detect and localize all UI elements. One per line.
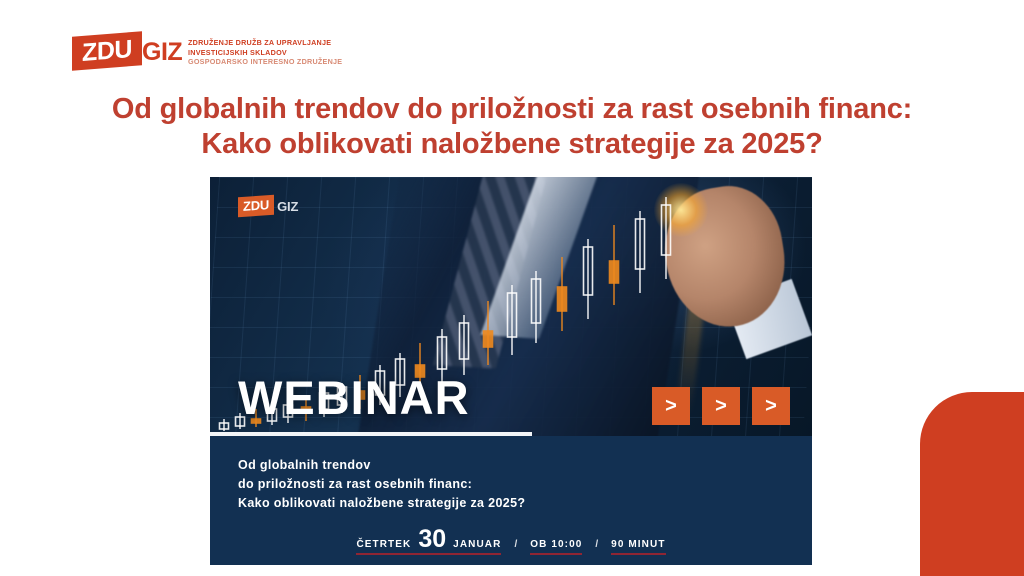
card-logo-giz: GIZ (277, 199, 298, 214)
corner-accent-shape (920, 392, 1024, 576)
logo-tagline-line-2: INVESTICIJSKIH SKLADOV (188, 48, 342, 58)
webinar-description-line-1: Od globalnih trendov (238, 456, 525, 475)
meta-month: JANUAR (453, 539, 501, 550)
webinar-label: WEBINAR (238, 373, 470, 423)
card-logo: ZDU GIZ (238, 196, 298, 216)
webinar-description: Od globalnih trendov do priložnosti za r… (238, 456, 525, 513)
meta-time: OB 10:00 (530, 539, 582, 555)
page-title-line-1: Od globalnih trendov do priložnosti za r… (112, 93, 912, 125)
webinar-meta-row: ČETRTEK 30 JANUAR / OB 10:00 / 90 MINUT (210, 528, 812, 555)
logo-tagline-line-3: GOSPODARSKO INTERESNO ZDRUŽENJE (188, 57, 342, 67)
page-title-line-2: Kako oblikovati naložbene strategije za … (0, 127, 1024, 162)
meta-duration: 90 MINUT (611, 539, 665, 555)
chevron-right-icon-3[interactable]: > (752, 387, 790, 425)
card-logo-zdu: ZDU (238, 195, 274, 218)
meta-day-number: 30 (418, 528, 446, 550)
webinar-description-line-2: do priložnosti za rast osebnih financ: (238, 475, 525, 494)
meta-date: ČETRTEK 30 JANUAR (356, 528, 501, 555)
chevron-right-icon-2[interactable]: > (702, 387, 740, 425)
meta-time-label: OB 10:00 (530, 539, 582, 550)
meta-separator-2: / (595, 539, 598, 550)
logo-zdu-text: ZDU (72, 31, 142, 71)
card-info-panel: Od globalnih trendov do priložnosti za r… (210, 436, 812, 565)
webinar-promo-card: ZDU GIZ WEBINAR > > > Od globalnih trend… (210, 177, 812, 565)
logo-tagline: ZDRUŽENJE DRUŽB ZA UPRAVLJANJE INVESTICI… (188, 32, 342, 67)
meta-duration-label: 90 MINUT (611, 539, 665, 550)
header-logo: ZDU GIZ ZDRUŽENJE DRUŽB ZA UPRAVLJANJE I… (72, 32, 342, 70)
webinar-description-line-3: Kako oblikovati naložbene strategije za … (238, 494, 525, 513)
page-title: Od globalnih trendov do priložnosti za r… (0, 92, 1024, 162)
logo-tagline-line-1: ZDRUŽENJE DRUŽB ZA UPRAVLJANJE (188, 38, 342, 48)
meta-separator-1: / (514, 539, 517, 550)
chevron-right-icon-1[interactable]: > (652, 387, 690, 425)
arrow-button-group: > > > (652, 387, 790, 425)
meta-weekday: ČETRTEK (356, 539, 411, 550)
logo-mark: ZDU GIZ (72, 32, 180, 70)
logo-giz-text: GIZ (142, 38, 182, 67)
